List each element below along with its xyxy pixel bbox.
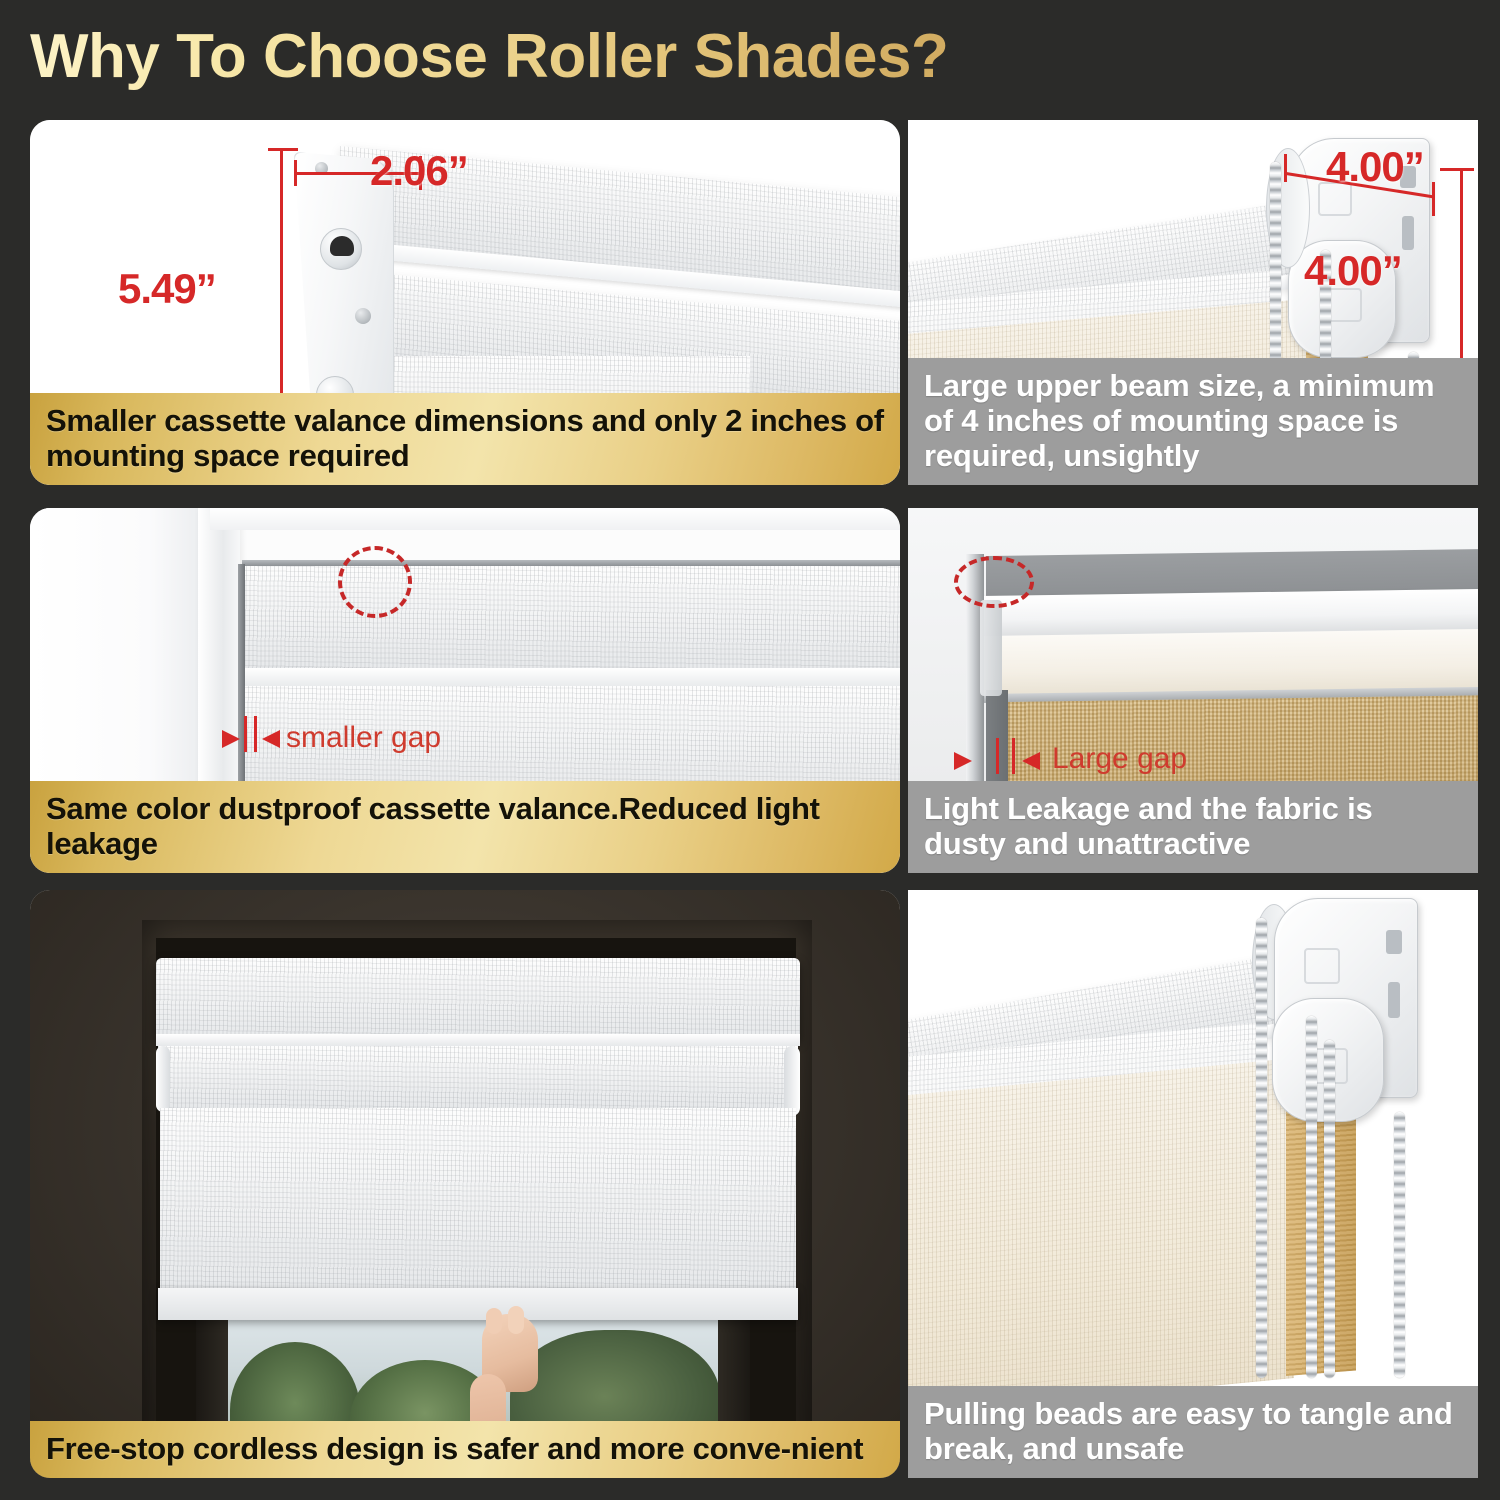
- valance-end-mechanism: [980, 600, 1002, 696]
- large-gap-label: Large gap: [1052, 744, 1187, 774]
- headrail-lower-roll: [158, 1046, 798, 1108]
- smaller-gap-shadow: [238, 564, 245, 810]
- cordless-room-photo: [30, 890, 900, 1478]
- bracket-emblem-upper: [1304, 948, 1340, 984]
- bracket-slot-mid: [1402, 216, 1414, 250]
- smaller-gap-label: smaller gap: [286, 723, 441, 753]
- highlight-circle-icon: [338, 546, 412, 618]
- bead-chain-1: [1256, 918, 1267, 1378]
- large-gap-arrow-right: [1022, 752, 1040, 770]
- beam-width-dimension-label: 4.00”: [1326, 146, 1424, 188]
- hand-finger-2: [508, 1306, 524, 1334]
- window-casing-header: [210, 508, 900, 530]
- infographic-root: Why To Choose Roller Shades? 2.06”: [0, 0, 1500, 1500]
- smaller-gap-arrow-right: [262, 730, 280, 748]
- bead-chain-3: [1324, 1040, 1335, 1378]
- caption-light-leakage: Light Leakage and the fabric is dusty an…: [908, 781, 1478, 873]
- smaller-gap-tick-right: [254, 716, 257, 752]
- beam-width-tick-right: [1432, 182, 1435, 216]
- caption-cassette-dimensions: Smaller cassette valance dimensions and …: [30, 393, 900, 485]
- valance-knob-upper: [320, 228, 362, 270]
- panel-cordless-design: Free-stop cordless design is safer and m…: [30, 890, 900, 1478]
- smaller-gap-tick-left: [244, 716, 247, 752]
- caption-cordless-design: Free-stop cordless design is safer and m…: [30, 1421, 900, 1478]
- window-casing-outer: [30, 508, 200, 808]
- highlight-circle-icon: [954, 556, 1034, 608]
- height-dimension-label: 5.49”: [118, 268, 216, 310]
- cassette-headrail: [156, 958, 800, 1040]
- panel-pulling-beads: Pulling beads are easy to tangle and bre…: [908, 890, 1478, 1478]
- large-gap-arrow-left: [954, 752, 972, 770]
- headrail-lip: [156, 1034, 800, 1046]
- panel-cassette-dimensions: 2.06” 5.49” Smaller cassette valance dim…: [30, 120, 900, 485]
- beam-height-dimension-label: 4.00”: [1304, 250, 1402, 292]
- page-title: Why To Choose Roller Shades?: [30, 18, 1130, 96]
- panel-dustproof-cassette: smaller gap Same color dustproof cassett…: [30, 508, 900, 873]
- valance-screw: [355, 308, 371, 324]
- beige-fabric-face: [908, 1058, 1294, 1416]
- width-dimension-tick-left: [294, 160, 297, 186]
- smaller-gap-arrow-left: [222, 730, 240, 748]
- caption-upper-beam-dimensions: Large upper beam size, a minimum of 4 in…: [908, 358, 1478, 485]
- knob-socket: [330, 236, 354, 256]
- caption-dustproof-cassette: Same color dustproof cassette valance.Re…: [30, 781, 900, 873]
- height-dimension-tick-top: [268, 148, 298, 151]
- hand-finger-1: [486, 1308, 502, 1334]
- cassette-bottom-lip: [242, 668, 900, 686]
- shade-fabric-main: [160, 1108, 796, 1296]
- beam-height-tick-top: [1440, 168, 1474, 171]
- shade-bottom-rail: [158, 1288, 798, 1320]
- panel-upper-beam-dimensions: 4.00” 4.00” Large upper beam size, a min…: [908, 120, 1478, 485]
- bead-chain-2: [1306, 1016, 1317, 1378]
- window-casing-inner: [198, 508, 240, 808]
- beam-width-tick-left: [1284, 154, 1287, 182]
- caption-pulling-beads: Pulling beads are easy to tangle and bre…: [908, 1386, 1478, 1478]
- width-dimension-label: 2.06”: [370, 150, 468, 192]
- bead-chain-4: [1394, 1112, 1405, 1378]
- panel-light-leakage: Large gap Light Leakage and the fabric i…: [908, 508, 1478, 873]
- beam-height-dimension-line: [1460, 168, 1463, 376]
- bracket-slot-top: [1386, 930, 1402, 954]
- large-gap-tick-right: [1012, 738, 1015, 774]
- headrail-end-left: [156, 1046, 170, 1112]
- headrail-end-right: [784, 1046, 800, 1116]
- bracket-slot-mid: [1388, 982, 1400, 1018]
- large-gap-tick-left: [996, 738, 999, 774]
